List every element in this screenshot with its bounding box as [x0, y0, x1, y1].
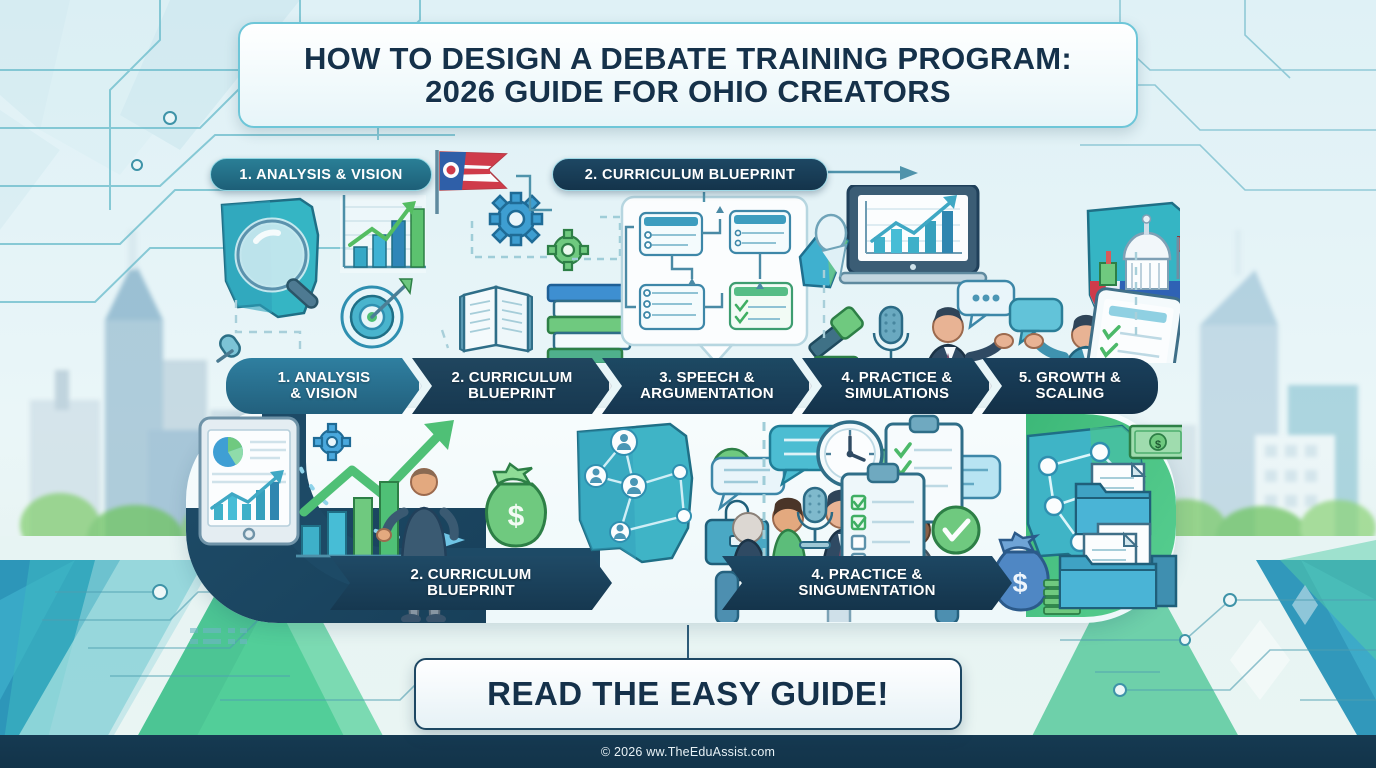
tablet-pie-chart-icon [200, 418, 298, 544]
cta-button[interactable]: READ THE EASY GUIDE! [414, 658, 962, 730]
pill-analysis-vision[interactable]: 1. ANALYSIS & VISION [210, 158, 432, 191]
stage-2-line-2: BLUEPRINT [468, 386, 556, 402]
cta-connector-line [687, 625, 689, 661]
footer-text: © 2026 ww.TheEduAssist.com [601, 745, 775, 759]
gear-icon [314, 424, 350, 460]
stage-chevron-3[interactable]: 3. SPEECH & ARGUMENTATION [602, 358, 812, 414]
stage-5-line-1: 5. GROWTH & [1019, 370, 1121, 386]
lower-1-line-1: 2. CURRICULUM [411, 567, 532, 583]
svg-text:$: $ [1155, 439, 1161, 451]
svg-text:$: $ [508, 500, 525, 533]
stage-4-line-2: SIMULATIONS [845, 386, 949, 402]
lower-2-line-2: SINGUMENTATION [798, 583, 935, 599]
pill-2-label: 2. CURRICULUM BLUEPRINT [585, 167, 796, 183]
lower-chevron-2[interactable]: 4. PRACTICE & SINGUMENTATION [722, 556, 1012, 610]
stage-2-line-1: 2. CURRICULUM [452, 370, 573, 386]
footer-bar: © 2026 ww.TheEduAssist.com [0, 735, 1376, 768]
banknote-icon: $ [1130, 426, 1182, 458]
stage-3-line-2: ARGUMENTATION [640, 386, 774, 402]
check-circle-icon [933, 507, 979, 553]
stage-3-line-1: 3. SPEECH & [659, 370, 755, 386]
infographic-canvas: HOW TO DESIGN A DEBATE TRAINING PROGRAM:… [0, 0, 1376, 768]
lower-2-line-1: 4. PRACTICE & [812, 567, 923, 583]
stage-chevron-1[interactable]: 1. ANALYSIS & VISION [226, 358, 422, 414]
stage-chevron-band: 1. ANALYSIS & VISION 2. CURRICULUM BLUEP… [226, 358, 1178, 414]
lower-chevron-band: 2. CURRICULUM BLUEPRINT 4. PRACTICE & SI… [330, 556, 1020, 610]
stage-1-line-2: & VISION [290, 386, 357, 402]
pill-1-label: 1. ANALYSIS & VISION [239, 167, 402, 183]
stage-chevron-4[interactable]: 4. PRACTICE & SIMULATIONS [802, 358, 992, 414]
stage-1-line-1: 1. ANALYSIS [278, 370, 371, 386]
stage-chevron-2[interactable]: 2. CURRICULUM BLUEPRINT [412, 358, 612, 414]
money-bag-icon: $ [487, 464, 546, 546]
lower-1-line-2: BLUEPRINT [427, 583, 515, 599]
top-connectors [0, 0, 1376, 400]
stage-4-line-1: 4. PRACTICE & [842, 370, 953, 386]
lower-chevron-1[interactable]: 2. CURRICULUM BLUEPRINT [330, 556, 612, 610]
stage-chevron-5[interactable]: 5. GROWTH & SCALING [982, 358, 1158, 414]
stage-5-line-2: SCALING [1036, 386, 1105, 402]
cta-label: READ THE EASY GUIDE! [487, 675, 889, 713]
lower-chevron-spacer [602, 556, 732, 610]
pill-curriculum-blueprint[interactable]: 2. CURRICULUM BLUEPRINT [552, 158, 828, 191]
